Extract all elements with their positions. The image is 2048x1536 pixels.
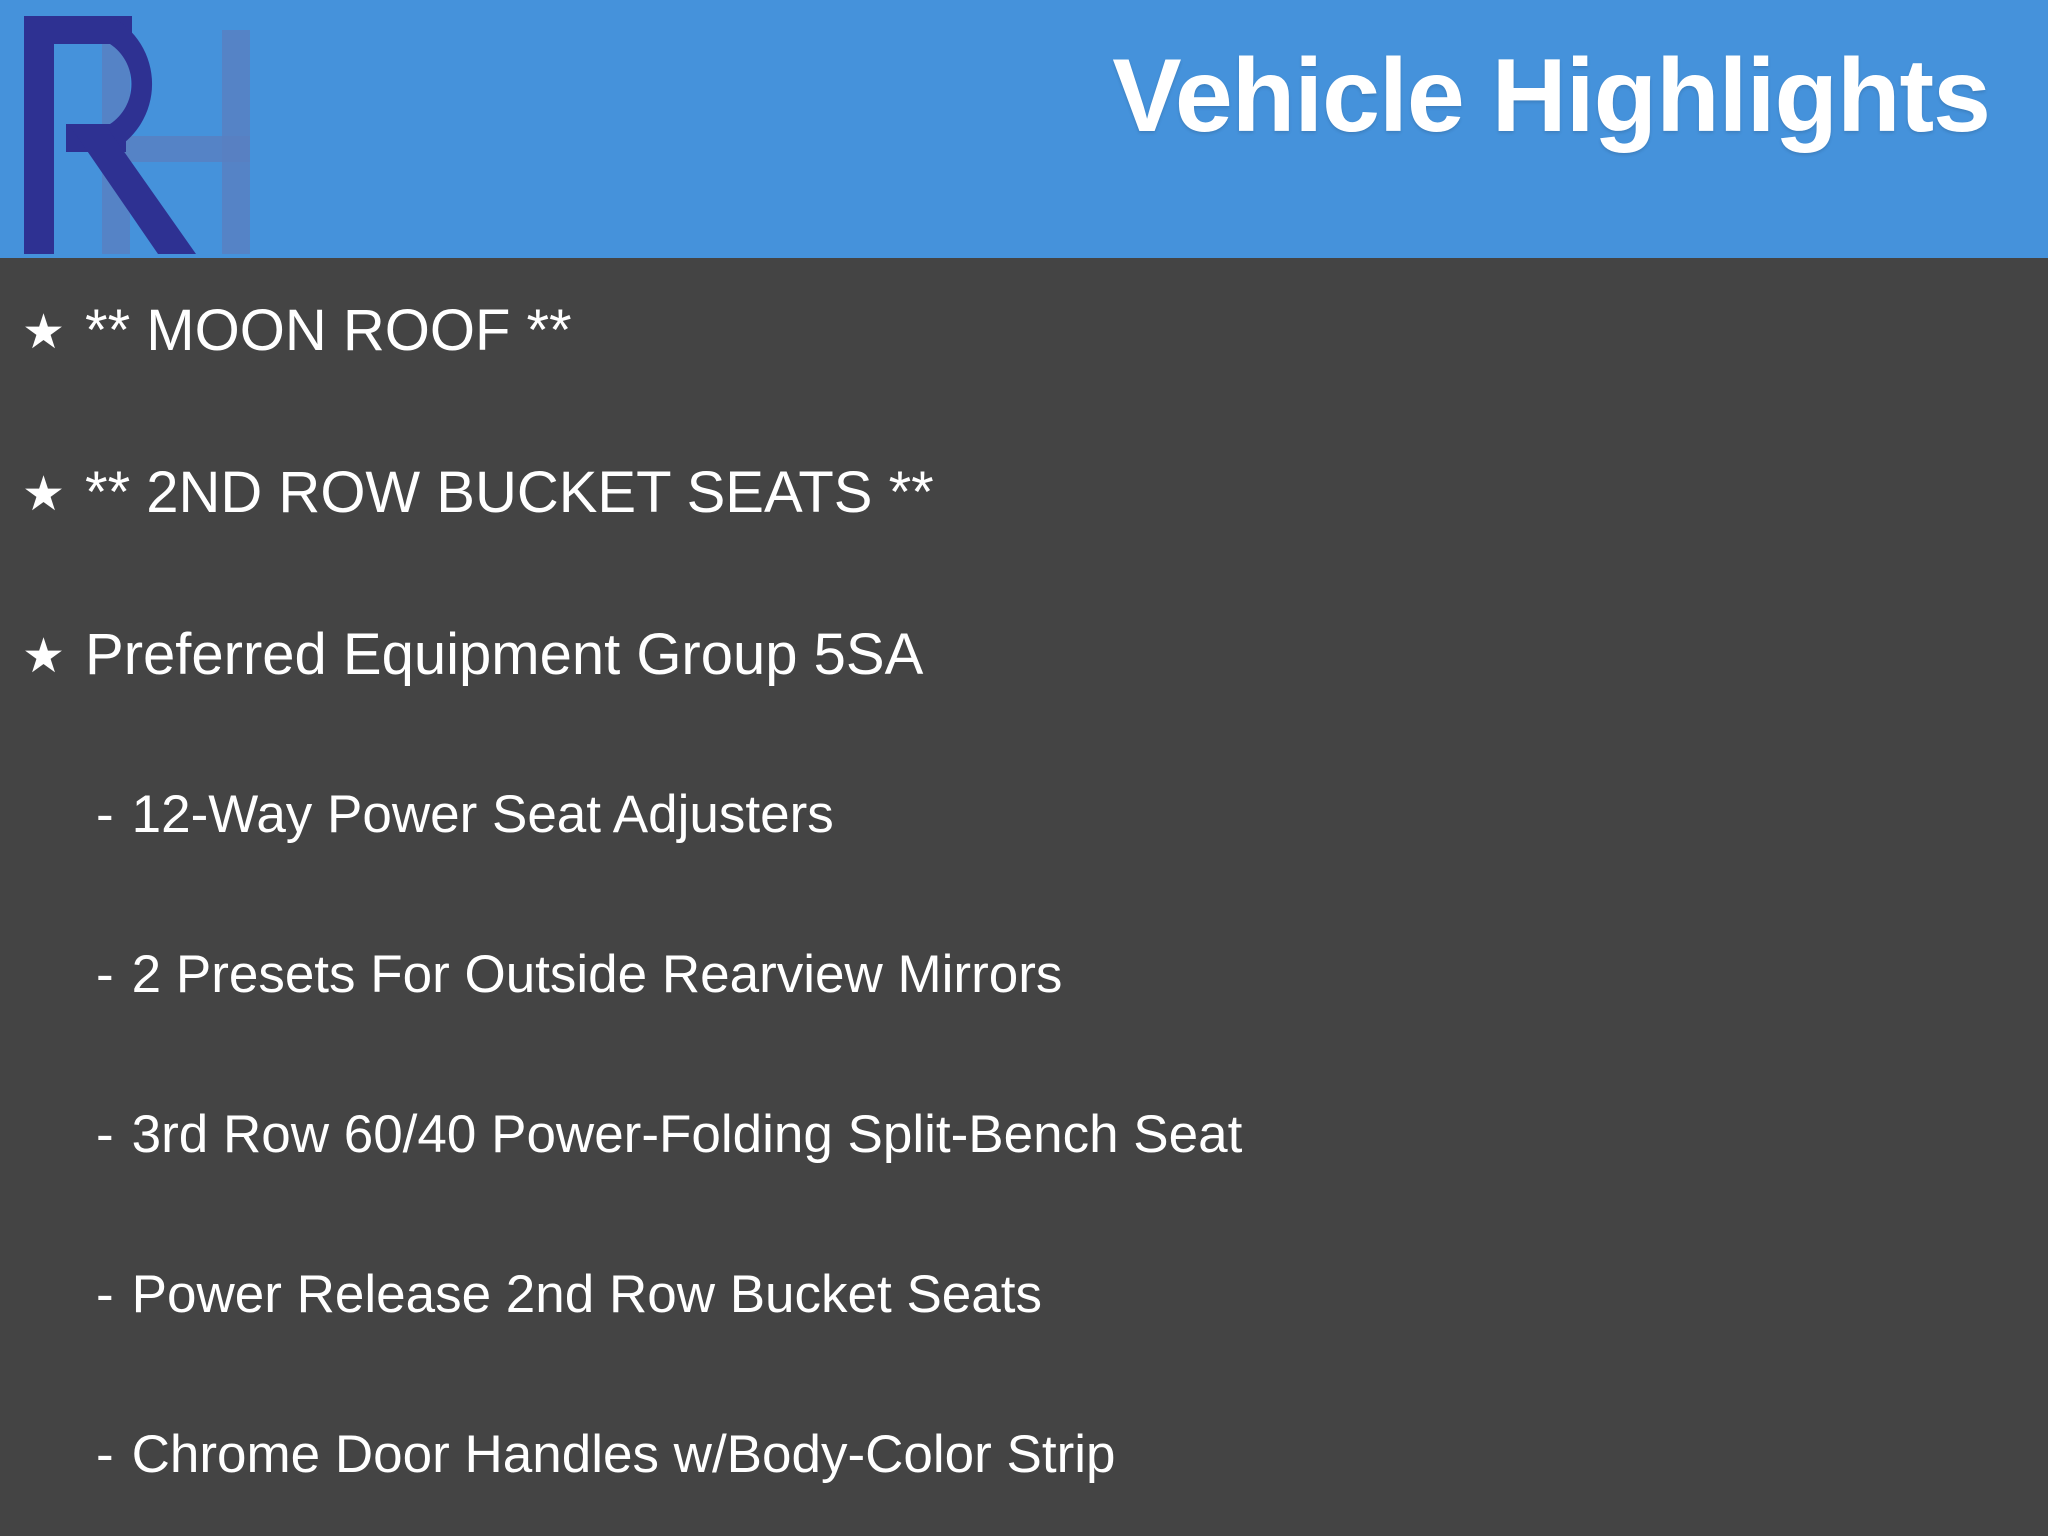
dash-icon: - bbox=[96, 948, 114, 1001]
list-item-label: 3rd Row 60/40 Power-Folding Split-Bench … bbox=[132, 1108, 1243, 1161]
list-item: - Power Release 2nd Row Bucket Seats bbox=[0, 1268, 2048, 1321]
list-item: - 2 Presets For Outside Rearview Mirrors bbox=[0, 948, 2048, 1001]
list-item: - 12-Way Power Seat Adjusters bbox=[0, 788, 2048, 841]
dash-icon: - bbox=[96, 788, 114, 841]
list-item: ★ ** 2ND ROW BUCKET SEATS ** bbox=[0, 464, 2048, 522]
list-item: - 3rd Row 60/40 Power-Folding Split-Benc… bbox=[0, 1108, 2048, 1161]
list-item-label: ** MOON ROOF ** bbox=[85, 302, 572, 360]
page-title: Vehicle Highlights bbox=[1112, 42, 1990, 151]
star-icon: ★ bbox=[22, 471, 65, 519]
highlights-content: ★ ** MOON ROOF ** ★ ** 2ND ROW BUCKET SE… bbox=[0, 258, 2048, 1536]
list-item-label: 12-Way Power Seat Adjusters bbox=[132, 788, 834, 841]
rh-monogram-logo[interactable] bbox=[10, 4, 262, 254]
list-item: - Chrome Door Handles w/Body-Color Strip bbox=[0, 1428, 2048, 1481]
vehicle-highlights-page: Vehicle Highlights ★ ** MOON ROOF ** ★ *… bbox=[0, 0, 2048, 1536]
star-icon: ★ bbox=[22, 633, 65, 681]
list-item-label: Power Release 2nd Row Bucket Seats bbox=[132, 1268, 1042, 1321]
highlights-list: ★ ** MOON ROOF ** ★ ** 2ND ROW BUCKET SE… bbox=[0, 302, 2048, 1481]
dash-icon: - bbox=[96, 1268, 114, 1321]
dash-icon: - bbox=[96, 1428, 114, 1481]
star-icon: ★ bbox=[22, 309, 65, 357]
list-item-label: 2 Presets For Outside Rearview Mirrors bbox=[132, 948, 1063, 1001]
list-item-label: Chrome Door Handles w/Body-Color Strip bbox=[132, 1428, 1116, 1481]
page-header: Vehicle Highlights bbox=[0, 0, 2048, 258]
list-item: ★ Preferred Equipment Group 5SA bbox=[0, 626, 2048, 684]
list-item: ★ ** MOON ROOF ** bbox=[0, 302, 2048, 360]
dash-icon: - bbox=[96, 1108, 114, 1161]
list-item-label: Preferred Equipment Group 5SA bbox=[85, 626, 923, 684]
list-item-label: ** 2ND ROW BUCKET SEATS ** bbox=[85, 464, 934, 522]
